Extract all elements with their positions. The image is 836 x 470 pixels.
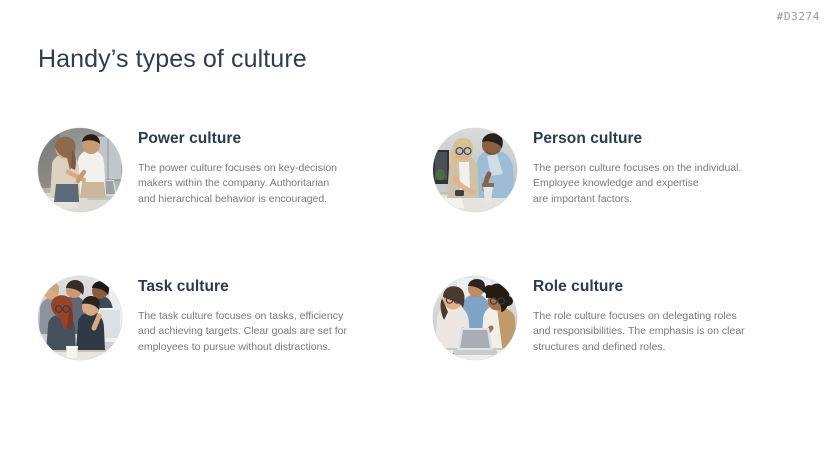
card-body-line: and hierarchical behavior is encouraged. bbox=[138, 192, 337, 208]
card-heading: Person culture bbox=[533, 130, 741, 149]
card-heading: Power culture bbox=[138, 130, 337, 149]
slide-id-label: #D3274 bbox=[777, 10, 820, 23]
photo-team-around-monitor bbox=[38, 276, 122, 360]
culture-card-task: Task culture The task culture focuses on… bbox=[38, 276, 433, 424]
card-body: The person culture focuses on the indivi… bbox=[533, 161, 741, 208]
card-heading: Task culture bbox=[138, 278, 347, 297]
card-body: The task culture focuses on tasks, effic… bbox=[138, 309, 347, 356]
page-title: Handy’s types of culture bbox=[38, 44, 307, 75]
card-body: The role culture focuses on delegating r… bbox=[533, 309, 745, 356]
card-body-line: The task culture focuses on tasks, effic… bbox=[138, 309, 347, 325]
card-body: The power culture focuses on key-decisio… bbox=[138, 161, 337, 208]
card-body-line: structures and defined roles. bbox=[533, 340, 745, 356]
card-body-line: The power culture focuses on key-decisio… bbox=[138, 161, 337, 177]
card-body-line: and achieving targets. Clear goals are s… bbox=[138, 324, 347, 340]
culture-cards-grid: Power culture The power culture focuses … bbox=[38, 128, 798, 424]
culture-card-power: Power culture The power culture focuses … bbox=[38, 128, 433, 276]
photo-two-coworkers-with-coffee bbox=[433, 128, 517, 212]
card-body-line: The person culture focuses on the indivi… bbox=[533, 161, 741, 177]
culture-card-text: Power culture The power culture focuses … bbox=[138, 128, 337, 208]
card-body-line: makers within the company. Authoritarian bbox=[138, 176, 337, 192]
culture-card-text: Role culture The role culture focuses on… bbox=[533, 276, 745, 356]
card-heading: Role culture bbox=[533, 278, 745, 297]
card-body-line: are important factors. bbox=[533, 192, 741, 208]
photo-team-around-laptop bbox=[433, 276, 517, 360]
culture-card-person: Person culture The person culture focuse… bbox=[433, 128, 798, 276]
culture-card-text: Task culture The task culture focuses on… bbox=[138, 276, 347, 356]
culture-card-role: Role culture The role culture focuses on… bbox=[433, 276, 798, 424]
card-body-line: employees to pursue without distractions… bbox=[138, 340, 347, 356]
culture-card-text: Person culture The person culture focuse… bbox=[533, 128, 741, 208]
card-body-line: and responsibilities. The emphasis is on… bbox=[533, 324, 745, 340]
card-body-line: The role culture focuses on delegating r… bbox=[533, 309, 745, 325]
slide-canvas: #D3274 Handy’s types of culture bbox=[0, 0, 836, 470]
photo-two-colleagues-at-desk bbox=[38, 128, 122, 212]
card-body-line: Employee knowledge and expertise bbox=[533, 176, 741, 192]
